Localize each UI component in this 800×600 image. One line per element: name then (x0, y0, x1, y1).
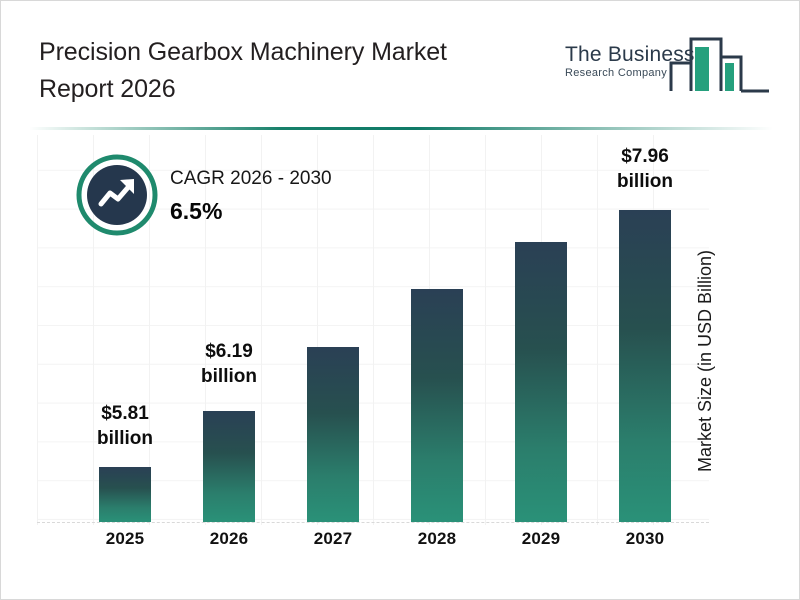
cagr-icon-circle (76, 154, 158, 236)
x-axis: 2025 2026 2027 2028 2029 2030 (37, 529, 709, 559)
x-tick-2025: 2025 (73, 529, 177, 549)
bar-chart-logo-mark-icon (669, 29, 773, 101)
value-callout-2026-unit: billion (177, 364, 281, 389)
x-tick-2028: 2028 (385, 529, 489, 549)
value-callout-2030-unit: billion (593, 169, 697, 194)
chart-page: Precision Gearbox Machinery Market Repor… (0, 0, 800, 600)
logo-line-2: Research Company (565, 66, 685, 80)
x-tick-2026: 2026 (177, 529, 281, 549)
value-callout-2030: $7.96 billion (593, 144, 697, 194)
logo-line-1: The Business (565, 43, 685, 66)
header-divider (29, 127, 773, 130)
y-axis-title: Market Size (in USD Billion) (695, 0, 716, 211)
cagr-period-label: CAGR 2026 - 2030 (170, 167, 400, 191)
logo-text: The Business Research Company (565, 43, 685, 80)
chart-baseline (37, 522, 709, 523)
bar-2030[interactable] (619, 210, 671, 522)
value-callout-2026: $6.19 billion (177, 339, 281, 389)
header: Precision Gearbox Machinery Market Repor… (1, 1, 800, 119)
cagr-text-block: CAGR 2026 - 2030 6.5% (170, 167, 400, 227)
x-tick-2029: 2029 (489, 529, 593, 549)
page-title: Precision Gearbox Machinery Market Repor… (39, 34, 509, 108)
cagr-value-label: 6.5% (170, 195, 400, 227)
x-tick-2030: 2030 (593, 529, 697, 549)
value-callout-2025: $5.81 billion (73, 401, 177, 451)
bar-2025[interactable] (99, 467, 151, 522)
bar-2027[interactable] (307, 347, 359, 522)
value-callout-2026-amount: $6.19 (177, 339, 281, 364)
value-callout-2030-amount: $7.96 (593, 144, 697, 169)
value-callout-2025-amount: $5.81 (73, 401, 177, 426)
company-logo: The Business Research Company (561, 29, 776, 107)
x-tick-2027: 2027 (281, 529, 385, 549)
cagr-badge: CAGR 2026 - 2030 6.5% (76, 154, 396, 246)
y-axis-title-text: Market Size (in USD Billion) (695, 211, 716, 511)
value-callout-2025-unit: billion (73, 426, 177, 451)
bar-2029[interactable] (515, 242, 567, 522)
bar-2026[interactable] (203, 411, 255, 522)
bar-2028[interactable] (411, 289, 463, 522)
